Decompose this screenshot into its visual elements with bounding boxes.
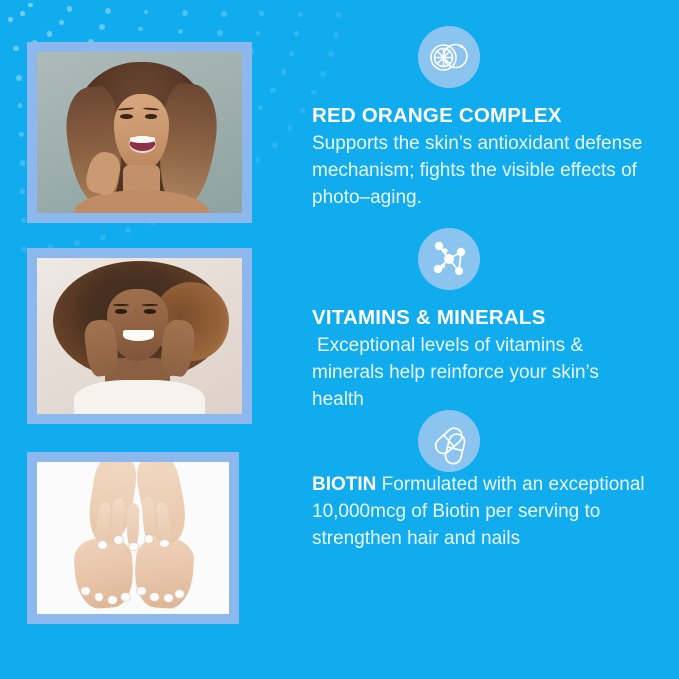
decorative-dot xyxy=(272,142,278,148)
decorative-dot xyxy=(182,10,187,15)
decorative-dot xyxy=(20,189,25,194)
decorative-dot xyxy=(99,24,105,30)
section-body: BIOTIN Formulated with an exceptional 10… xyxy=(312,472,652,553)
decorative-dot xyxy=(259,11,264,16)
section-heading: BIOTIN xyxy=(312,474,376,495)
decorative-dot xyxy=(221,11,227,17)
decorative-dot xyxy=(47,31,52,36)
decorative-dot xyxy=(256,31,261,36)
molecule-icon xyxy=(418,228,480,290)
smiling-woman-curly-hair-photo xyxy=(37,258,242,414)
citrus-slice-icon xyxy=(418,26,480,88)
decorative-dot xyxy=(67,6,72,11)
decorative-dot xyxy=(258,105,263,110)
decorative-dot xyxy=(19,132,24,137)
section-red-orange-complex: RED ORANGE COMPLEX Supports the skin’s a… xyxy=(312,26,652,212)
section-body: Supports the skin’s antioxidant defense … xyxy=(312,131,652,212)
decorative-dot xyxy=(20,11,25,16)
section-heading: VITAMINS & MINERALS xyxy=(312,306,652,331)
decorative-dot xyxy=(21,246,27,252)
decorative-dot xyxy=(138,27,143,32)
photo-frame-red-orange xyxy=(27,42,252,223)
decorative-dot xyxy=(300,108,306,114)
decorative-dot xyxy=(8,17,13,22)
decorative-dot xyxy=(298,12,303,17)
decorative-dot xyxy=(125,227,131,233)
decorative-dot xyxy=(13,46,18,51)
decorative-dot xyxy=(255,157,261,163)
section-biotin: BIOTIN Formulated with an exceptional 10… xyxy=(312,410,652,553)
decorative-dot xyxy=(105,8,111,14)
product-benefits-infographic: RED ORANGE COMPLEX Supports the skin’s a… xyxy=(0,0,679,679)
photo-frame-vitamins xyxy=(27,248,252,424)
decorative-dot xyxy=(28,3,33,8)
decorative-dot xyxy=(16,75,22,81)
decorative-dot xyxy=(100,234,106,240)
section-heading: RED ORANGE COMPLEX xyxy=(312,104,652,129)
decorative-dot xyxy=(21,218,26,223)
hands-and-feet-nails-photo xyxy=(37,462,229,614)
decorative-dot xyxy=(20,160,26,166)
decorative-dot xyxy=(270,88,275,93)
decorative-dot xyxy=(18,103,23,108)
decorative-dot xyxy=(178,29,183,34)
decorative-dot xyxy=(287,125,293,131)
decorative-dot xyxy=(336,12,342,18)
smiling-woman-long-hair-photo xyxy=(37,52,242,213)
decorative-dot xyxy=(217,30,223,36)
decorative-dot xyxy=(294,31,299,36)
section-vitamins-minerals: VITAMINS & MINERALS Exceptional levels o… xyxy=(312,228,652,414)
photo-frame-biotin xyxy=(27,452,239,624)
decorative-dot xyxy=(281,69,286,74)
decorative-dot xyxy=(59,20,64,25)
decorative-dot xyxy=(144,10,149,15)
decorative-dot xyxy=(289,51,294,56)
decorative-dot xyxy=(74,240,80,246)
section-body: Exceptional levels of vitamins & mineral… xyxy=(312,333,652,414)
capsule-pills-icon xyxy=(418,410,480,472)
